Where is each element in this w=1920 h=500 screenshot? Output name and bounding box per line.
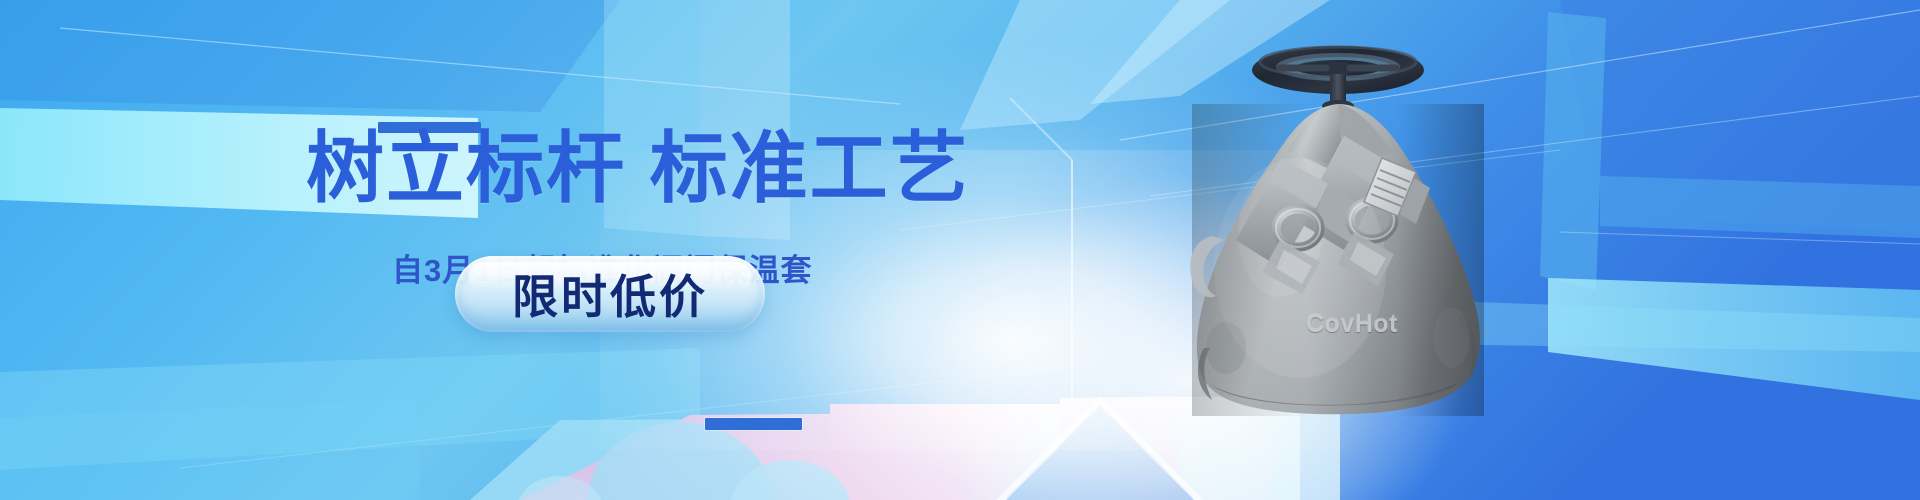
banner-content: 树立标杆 标准工艺 自3月1日起标准化阀门保温套 限时低价 xyxy=(0,0,1920,500)
limited-time-price-button[interactable]: 限时低价 xyxy=(455,256,765,332)
underline-accent-bar xyxy=(705,418,802,430)
banner-headline: 树立标杆 标准工艺 xyxy=(306,122,946,214)
cta-label: 限时低价 xyxy=(512,261,708,327)
promo-banner: CovHot 树立标杆 标准工艺 自3月1日起标准化阀门保温套 限时低价 xyxy=(0,0,1920,500)
